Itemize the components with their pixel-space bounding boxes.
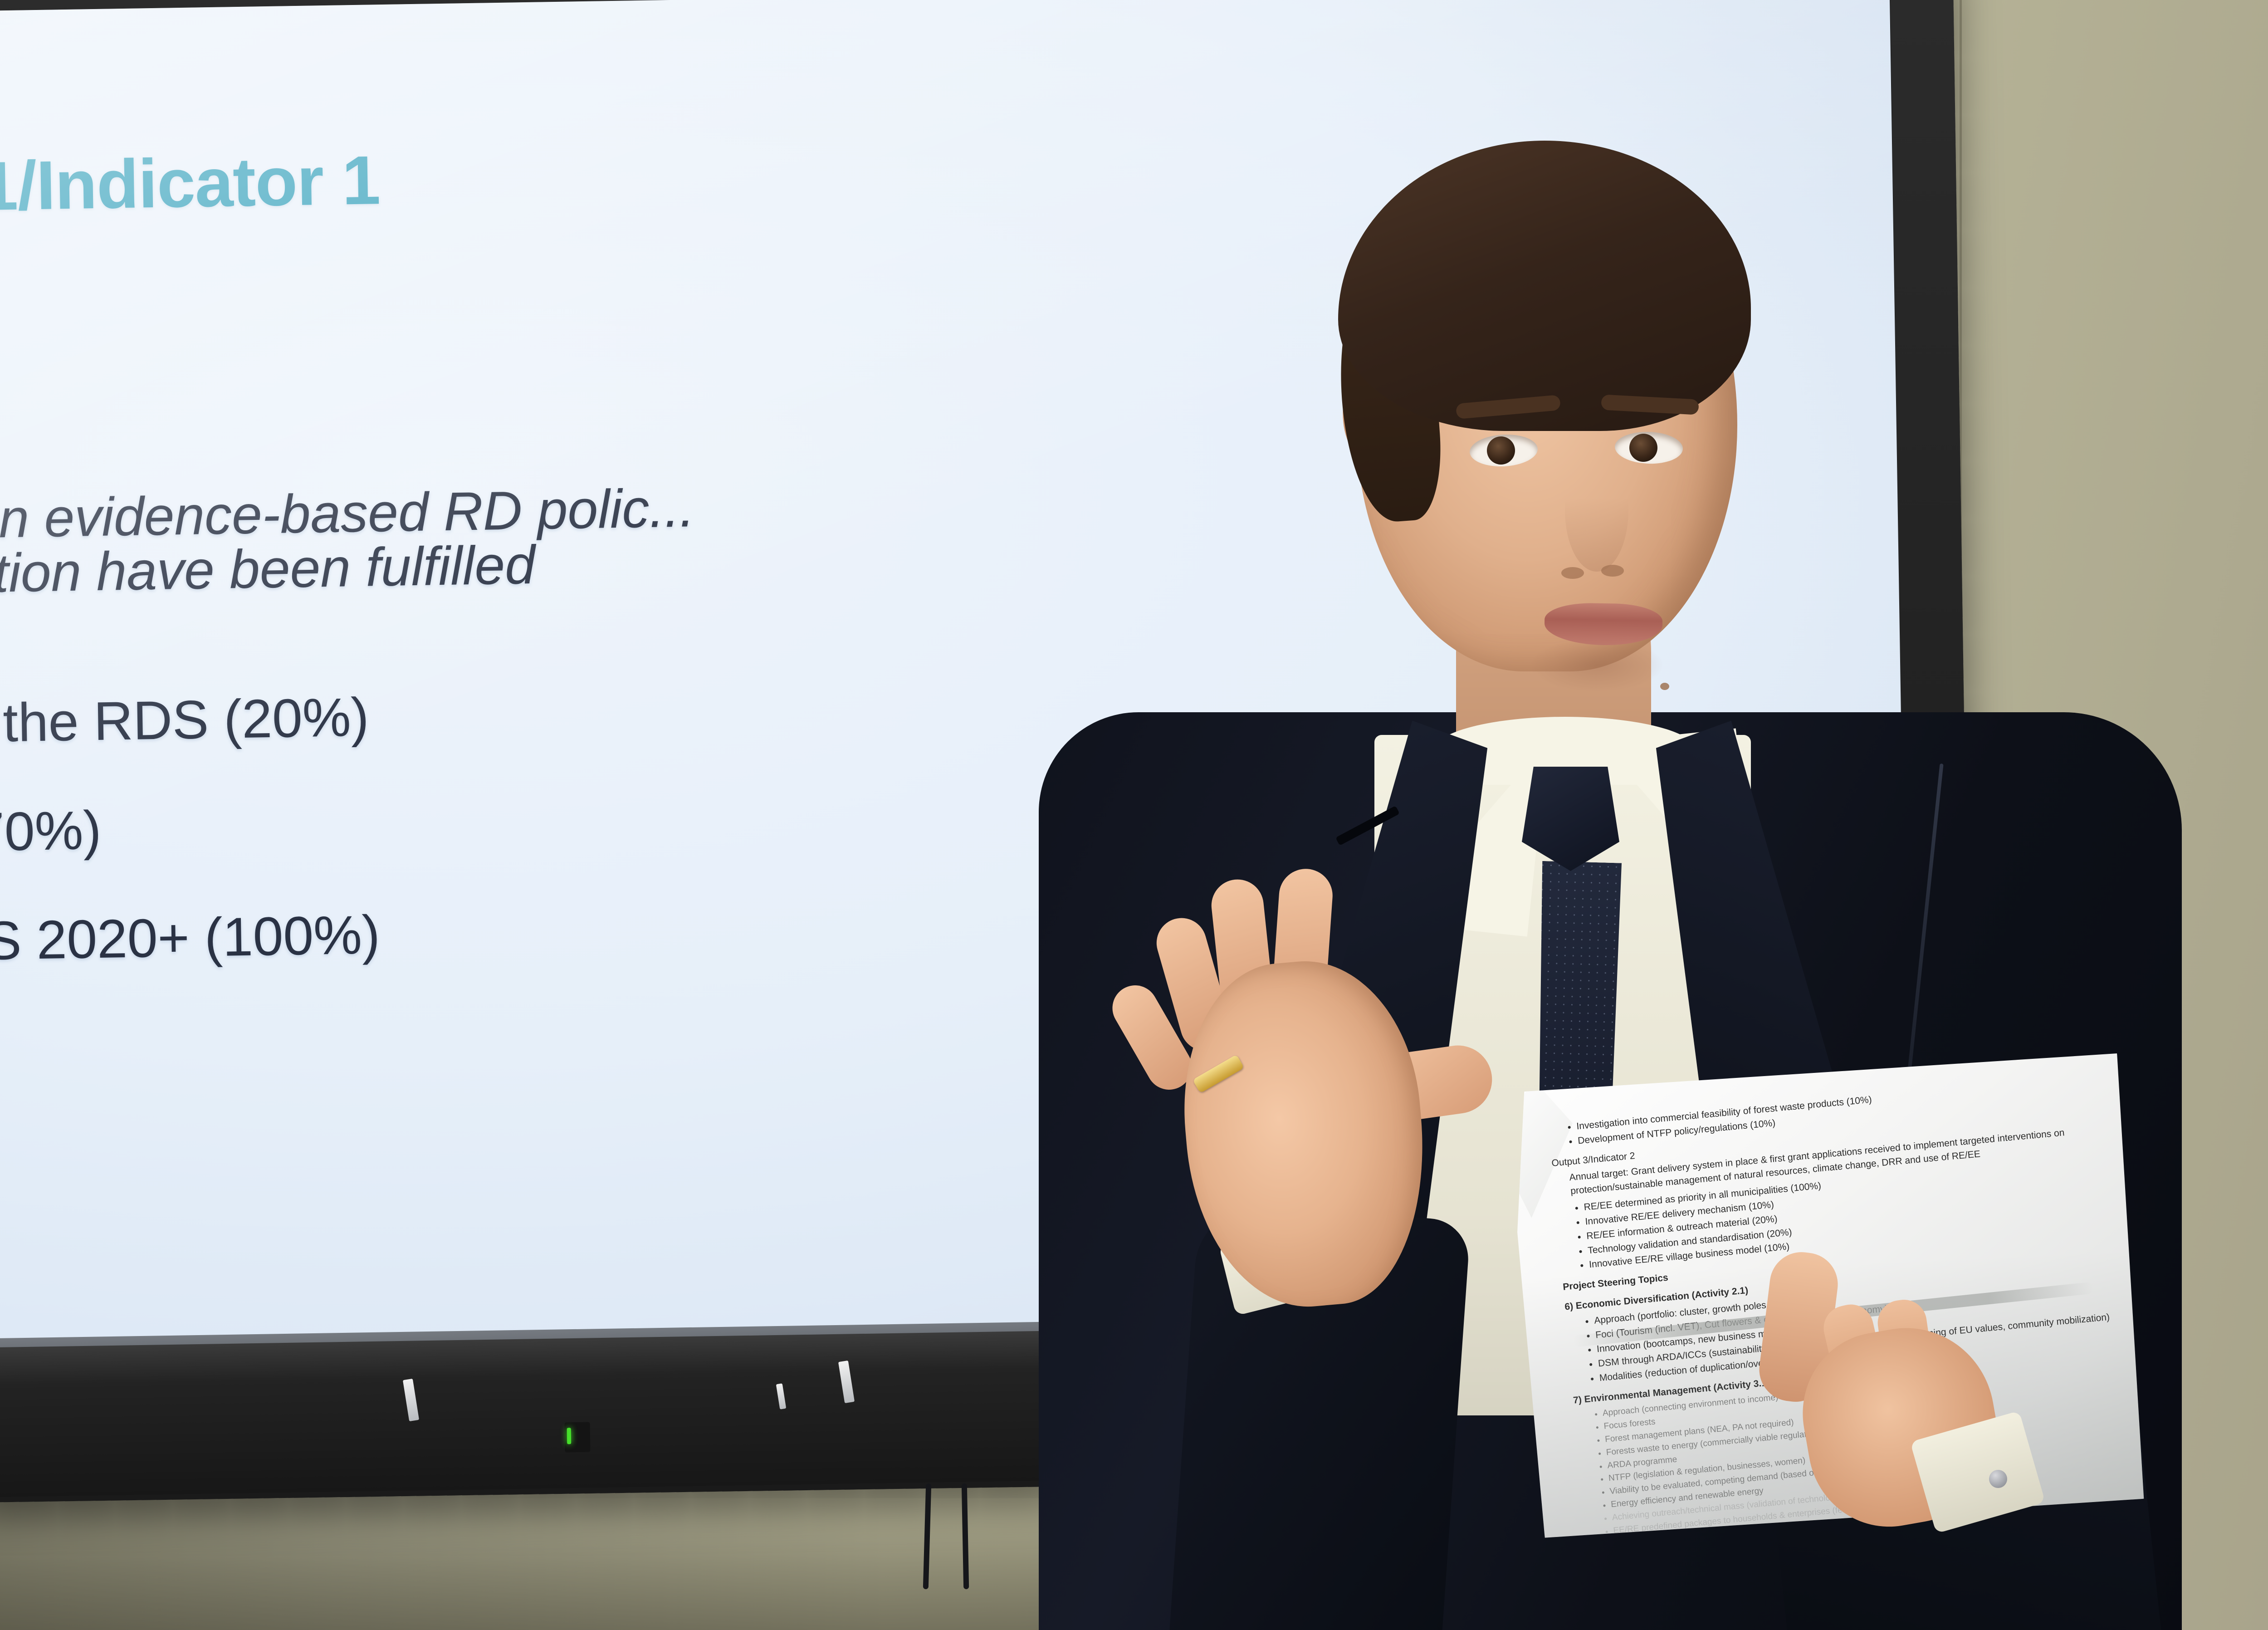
- power-led-icon[interactable]: [564, 1422, 590, 1453]
- nostril-left: [1561, 567, 1584, 579]
- photo-scene: Output 1/Indicator 1 ...rget ...ondition…: [0, 0, 2268, 1630]
- presenter: Investigation into commercial feasibilit…: [1057, 132, 2218, 1630]
- skin-mole: [1660, 683, 1669, 690]
- hair: [1338, 141, 1751, 431]
- nostril-right: [1601, 565, 1624, 577]
- slide-title: Output 1/Indicator 1: [0, 141, 381, 230]
- chin-shadow: [1501, 640, 1692, 703]
- pupil-right: [1629, 434, 1657, 462]
- cufflink: [1989, 1470, 2007, 1488]
- nose: [1565, 449, 1628, 572]
- pupil-left: [1487, 436, 1515, 465]
